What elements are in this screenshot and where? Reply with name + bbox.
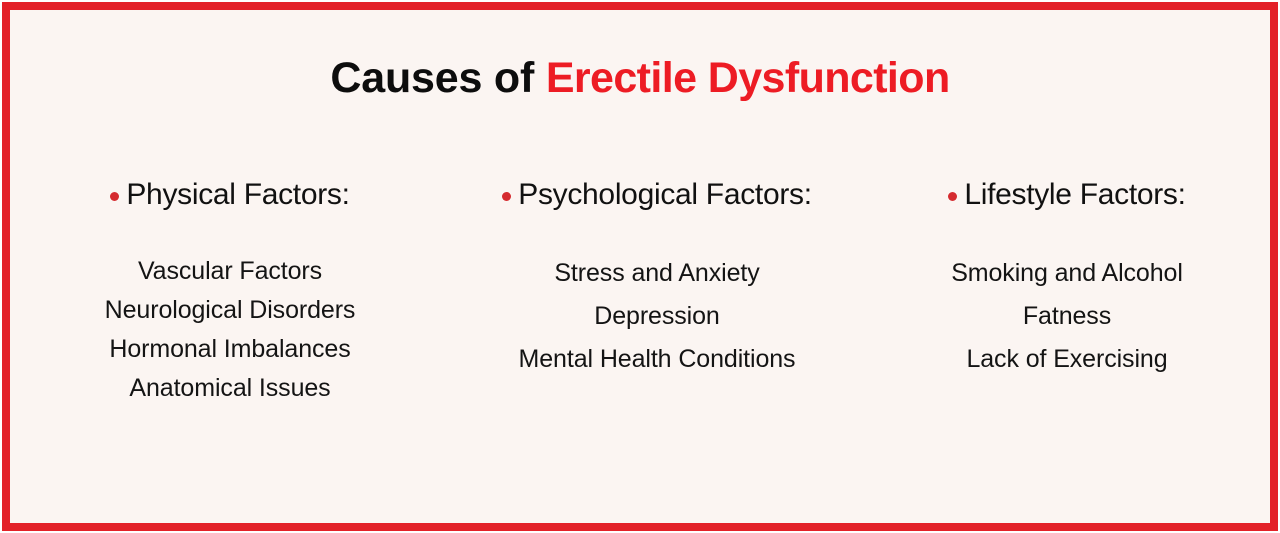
list-item: Hormonal Imbalances (109, 330, 350, 369)
list-item: Vascular Factors (138, 252, 322, 291)
column-psychological-factors: Psychological Factors: Stress and Anxiet… (442, 170, 872, 381)
infographic-poster: Causes of Erectile Dysfunction Physical … (0, 0, 1280, 533)
title-accent-text: Erectile Dysfunction (546, 54, 950, 102)
column-header-psychological: Psychological Factors: (502, 170, 812, 220)
list-item: Depression (594, 295, 719, 338)
list-item: Neurological Disorders (105, 291, 356, 330)
list-item: Smoking and Alcohol (951, 252, 1183, 295)
list-item: Lack of Exercising (966, 338, 1167, 381)
column-header-label: Lifestyle Factors: (964, 180, 1185, 210)
column-items-physical: Vascular Factors Neurological Disorders … (18, 252, 442, 408)
title-plain-text: Causes of (330, 54, 545, 102)
column-header-lifestyle: Lifestyle Factors: (948, 170, 1185, 220)
bullet-dot-icon (948, 192, 957, 201)
column-header-label: Physical Factors: (126, 180, 349, 210)
column-header-label: Psychological Factors: (518, 180, 812, 210)
list-item: Mental Health Conditions (519, 338, 796, 381)
column-items-lifestyle: Smoking and Alcohol Fatness Lack of Exer… (872, 252, 1262, 381)
column-header-physical: Physical Factors: (110, 170, 349, 220)
list-item: Fatness (1023, 295, 1111, 338)
bullet-dot-icon (502, 192, 511, 201)
red-border-frame: Causes of Erectile Dysfunction Physical … (2, 2, 1278, 531)
column-items-psychological: Stress and Anxiety Depression Mental Hea… (442, 252, 872, 381)
factor-columns: Physical Factors: Vascular Factors Neuro… (18, 170, 1262, 408)
page-title: Causes of Erectile Dysfunction (10, 54, 1270, 103)
column-lifestyle-factors: Lifestyle Factors: Smoking and Alcohol F… (872, 170, 1262, 381)
bullet-dot-icon (110, 192, 119, 201)
column-physical-factors: Physical Factors: Vascular Factors Neuro… (18, 170, 442, 408)
list-item: Anatomical Issues (129, 369, 330, 408)
list-item: Stress and Anxiety (554, 252, 759, 295)
poster-content-area: Causes of Erectile Dysfunction Physical … (10, 10, 1270, 523)
